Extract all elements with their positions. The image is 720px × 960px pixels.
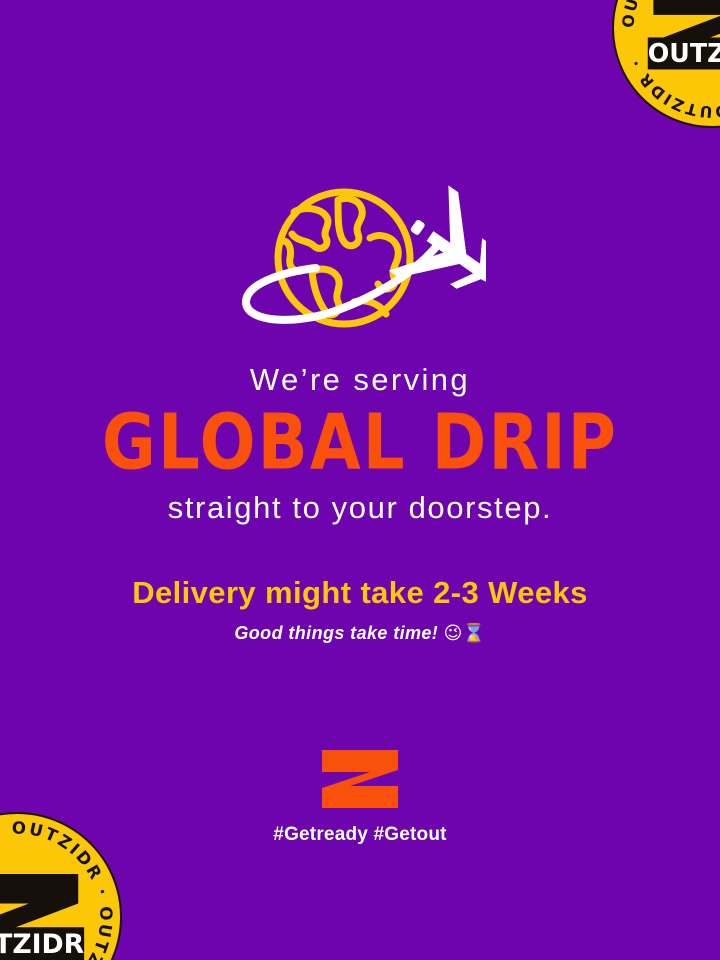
good-things-text: Good things take time!	[234, 623, 438, 643]
line-delivery-estimate: Delivery might take 2-3 Weeks	[0, 575, 720, 611]
outzidr-sticker-bottom-left: OUTZIDR · OUTZIDR · OUTZIDR · OUTZIDR · …	[0, 812, 122, 960]
badge-core-label-top-right: OUTZIDR	[648, 38, 720, 68]
outzidr-z-mark-icon	[320, 748, 400, 810]
copy-block: We’re serving GLOBAL DRIP straight to yo…	[0, 362, 720, 644]
line-good-things: Good things take time! 😉⌛	[0, 623, 720, 644]
line-serving: We’re serving	[0, 362, 720, 398]
line-doorstep: straight to your doorstep.	[0, 490, 720, 526]
globe-airplane-emblem	[234, 176, 486, 348]
promo-poster: OUTZIDR · OUTZIDR · OUTZIDR · OUTZIDR · …	[0, 0, 720, 960]
badge-core-label-bottom-left: OUTZIDR	[0, 929, 84, 960]
badge-core-logo-top-right: OUTZIDR	[645, 0, 720, 73]
outzidr-sticker-top-right: OUTZIDR · OUTZIDR · OUTZIDR · OUTZIDR · …	[612, 0, 720, 128]
wink-hourglass-emoji: 😉⌛	[444, 623, 486, 644]
badge-core-logo-bottom-left: OUTZIDR	[0, 870, 87, 960]
headline-global-drip: GLOBAL DRIP	[0, 404, 720, 481]
